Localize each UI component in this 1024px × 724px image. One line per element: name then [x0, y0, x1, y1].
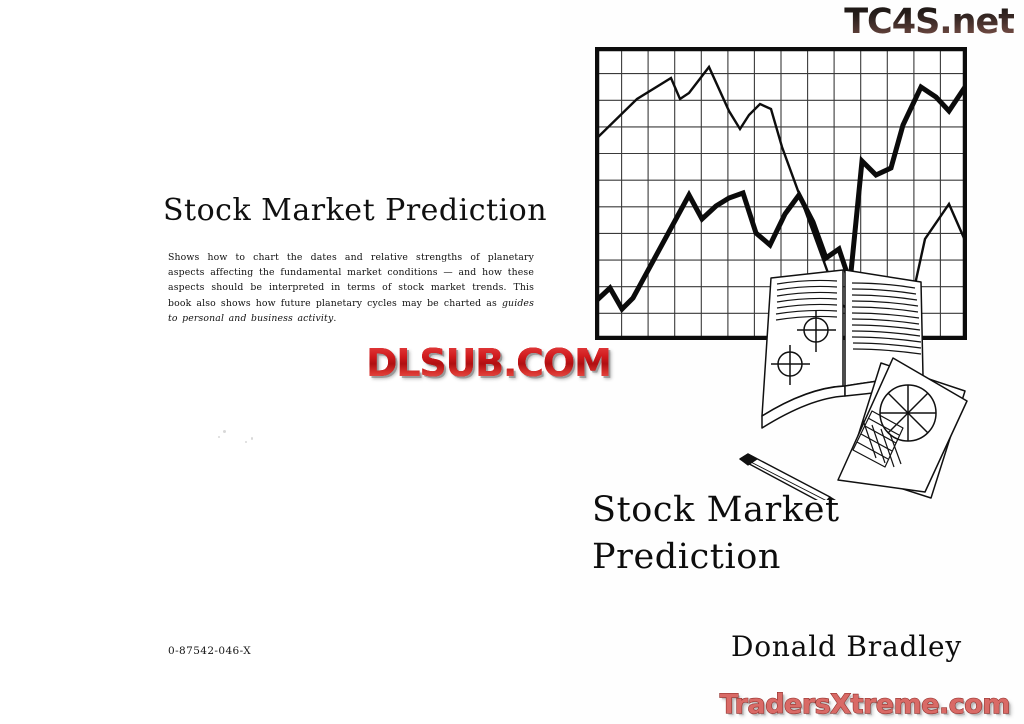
book-cover-page: Stock Market Prediction Shows how to cha…	[0, 0, 1024, 724]
scan-speckle	[218, 436, 220, 438]
back-cover-title: Stock Market Prediction	[163, 193, 563, 228]
study-materials-illustration	[735, 268, 970, 500]
scan-speckle	[251, 437, 253, 440]
front-cover-author: Donald Bradley	[731, 630, 962, 663]
blurb-lead-text: Shows how to chart the dates and relativ…	[168, 252, 534, 309]
scan-speckle	[245, 441, 247, 443]
front-cover-title: Stock Market Prediction	[592, 487, 992, 581]
scan-speckle	[223, 430, 226, 433]
isbn-number: 0-87542-046-X	[168, 645, 251, 657]
front-title-line-2: Prediction	[592, 534, 992, 581]
pie-chart-wheel	[880, 385, 936, 441]
back-cover-blurb: Shows how to chart the dates and relativ…	[168, 250, 534, 326]
front-title-line-1: Stock Market	[592, 487, 992, 534]
back-cover-panel: Stock Market Prediction Shows how to cha…	[0, 0, 560, 724]
blurb-tail-text: .	[333, 313, 336, 324]
study-materials-svg	[735, 268, 970, 500]
